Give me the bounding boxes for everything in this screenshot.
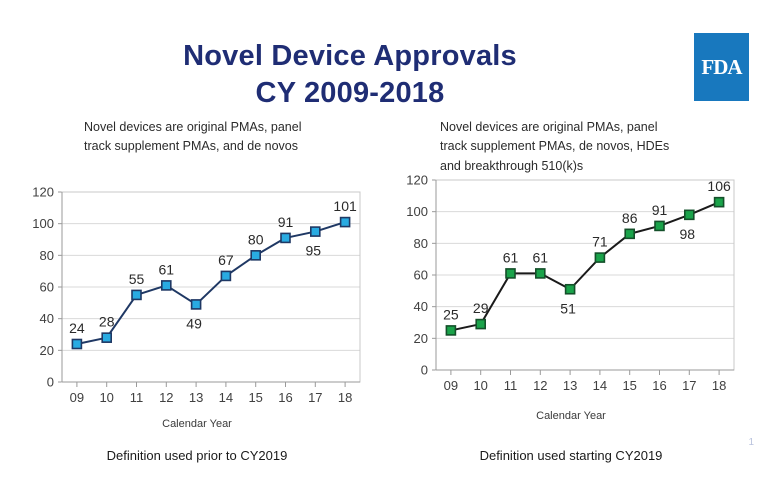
data-point-marker[interactable]: [625, 229, 634, 238]
y-axis-tick-label: 40: [414, 299, 428, 314]
chart-footer-right: Definition used starting CY2019: [396, 448, 746, 463]
data-point-label: 25: [443, 306, 459, 322]
y-axis-tick-label: 120: [32, 185, 54, 200]
y-axis-tick-label: 20: [40, 343, 54, 358]
fda-logo-text: FDA: [701, 55, 741, 80]
x-axis-tick-label: 18: [712, 378, 726, 393]
y-axis-tick-label: 80: [40, 248, 54, 263]
data-point-marker[interactable]: [102, 333, 111, 342]
data-point-marker[interactable]: [655, 221, 664, 230]
x-axis-tick-label: 15: [622, 378, 636, 393]
x-axis-tick-label: 12: [159, 390, 173, 405]
data-point-marker[interactable]: [281, 233, 290, 242]
data-point-label: 67: [218, 252, 234, 268]
x-axis-tick-label: 09: [444, 378, 458, 393]
y-axis-tick-label: 60: [40, 280, 54, 295]
data-point-marker[interactable]: [72, 340, 81, 349]
data-point-label: 98: [680, 226, 696, 242]
y-axis-tick-label: 20: [414, 331, 428, 346]
y-axis-tick-label: 100: [32, 216, 54, 231]
data-point-marker[interactable]: [685, 210, 694, 219]
title-line-2: CY 2009-2018: [0, 75, 700, 112]
caption-line-1: Novel devices are original PMAs, panel: [84, 120, 301, 134]
data-point-label: 71: [592, 234, 608, 250]
data-point-label: 86: [622, 210, 638, 226]
data-point-label: 24: [69, 320, 85, 336]
data-point-label: 49: [186, 315, 202, 331]
line-chart-left-svg: 0204060801001200910111213141516171824285…: [22, 178, 372, 416]
caption-line-1: Novel devices are original PMAs, panel: [440, 120, 657, 134]
chart-panel-right: Novel devices are original PMAs, panel t…: [396, 118, 746, 478]
x-axis-tick-label: 10: [473, 378, 487, 393]
data-point-marker[interactable]: [311, 227, 320, 236]
x-axis-title-left: Calendar Year: [22, 418, 372, 430]
x-axis-tick-label: 13: [189, 390, 203, 405]
x-axis-tick-label: 12: [533, 378, 547, 393]
data-point-marker[interactable]: [341, 218, 350, 227]
x-axis-tick-label: 16: [652, 378, 666, 393]
data-point-label: 61: [533, 249, 549, 265]
chart-panel-left: Novel devices are original PMAs, panel t…: [22, 118, 372, 478]
x-axis-tick-label: 16: [278, 390, 292, 405]
data-point-label: 51: [560, 300, 576, 316]
data-point-marker[interactable]: [221, 271, 230, 280]
chart-footer-left: Definition used prior to CY2019: [22, 448, 372, 463]
data-point-marker[interactable]: [251, 251, 260, 260]
y-axis-tick-label: 0: [47, 375, 54, 390]
x-axis-tick-label: 14: [593, 378, 607, 393]
data-point-label: 29: [473, 300, 489, 316]
y-axis-tick-label: 0: [421, 363, 428, 378]
data-point-label: 95: [306, 243, 322, 259]
x-axis-tick-label: 17: [308, 390, 322, 405]
fda-logo: FDA: [694, 33, 749, 101]
data-point-marker[interactable]: [446, 326, 455, 335]
series-line: [77, 222, 345, 344]
data-point-label: 91: [652, 202, 668, 218]
x-axis-tick-label: 09: [70, 390, 84, 405]
line-chart-right-svg: 0204060801001200910111213141516171825296…: [396, 166, 746, 404]
data-point-label: 106: [707, 178, 731, 194]
data-point-label: 80: [248, 231, 264, 247]
line-chart-left: 0204060801001200910111213141516171824285…: [22, 178, 372, 416]
title-line-1: Novel Device Approvals: [183, 40, 517, 72]
x-axis-tick-label: 14: [219, 390, 233, 405]
data-point-marker[interactable]: [506, 269, 515, 278]
x-axis-tick-label: 18: [338, 390, 352, 405]
y-axis-tick-label: 40: [40, 311, 54, 326]
data-point-marker[interactable]: [715, 198, 724, 207]
data-point-marker[interactable]: [476, 320, 485, 329]
series-line: [451, 202, 719, 330]
y-axis-tick-label: 100: [406, 204, 428, 219]
chart-caption-left: Novel devices are original PMAs, panel t…: [22, 118, 372, 157]
data-point-label: 61: [503, 249, 519, 265]
x-axis-tick-label: 11: [504, 378, 518, 393]
data-point-marker[interactable]: [595, 253, 604, 262]
data-point-label: 91: [278, 214, 294, 230]
x-axis-tick-label: 11: [130, 390, 144, 405]
data-point-label: 55: [129, 271, 145, 287]
y-axis-tick-label: 60: [414, 268, 428, 283]
x-axis-tick-label: 15: [248, 390, 262, 405]
y-axis-tick-label: 120: [406, 173, 428, 188]
page-number: 1: [748, 437, 754, 448]
x-axis-tick-label: 13: [563, 378, 577, 393]
page-title: Novel Device Approvals CY 2009-2018: [0, 38, 700, 112]
data-point-label: 28: [99, 314, 115, 330]
x-axis-title-right: Calendar Year: [396, 410, 746, 422]
data-point-marker[interactable]: [536, 269, 545, 278]
data-point-marker[interactable]: [162, 281, 171, 290]
y-axis-tick-label: 80: [414, 236, 428, 251]
caption-line-2: track supplement PMAs, and de novos: [84, 139, 298, 153]
data-point-label: 61: [159, 261, 175, 277]
caption-line-2: track supplement PMAs, de novos, HDEs: [440, 139, 669, 153]
data-point-marker[interactable]: [566, 285, 575, 294]
line-chart-right: 0204060801001200910111213141516171825296…: [396, 166, 746, 404]
x-axis-tick-label: 17: [682, 378, 696, 393]
x-axis-tick-label: 10: [99, 390, 113, 405]
data-point-marker[interactable]: [192, 300, 201, 309]
data-point-label: 101: [333, 198, 357, 214]
data-point-marker[interactable]: [132, 290, 141, 299]
